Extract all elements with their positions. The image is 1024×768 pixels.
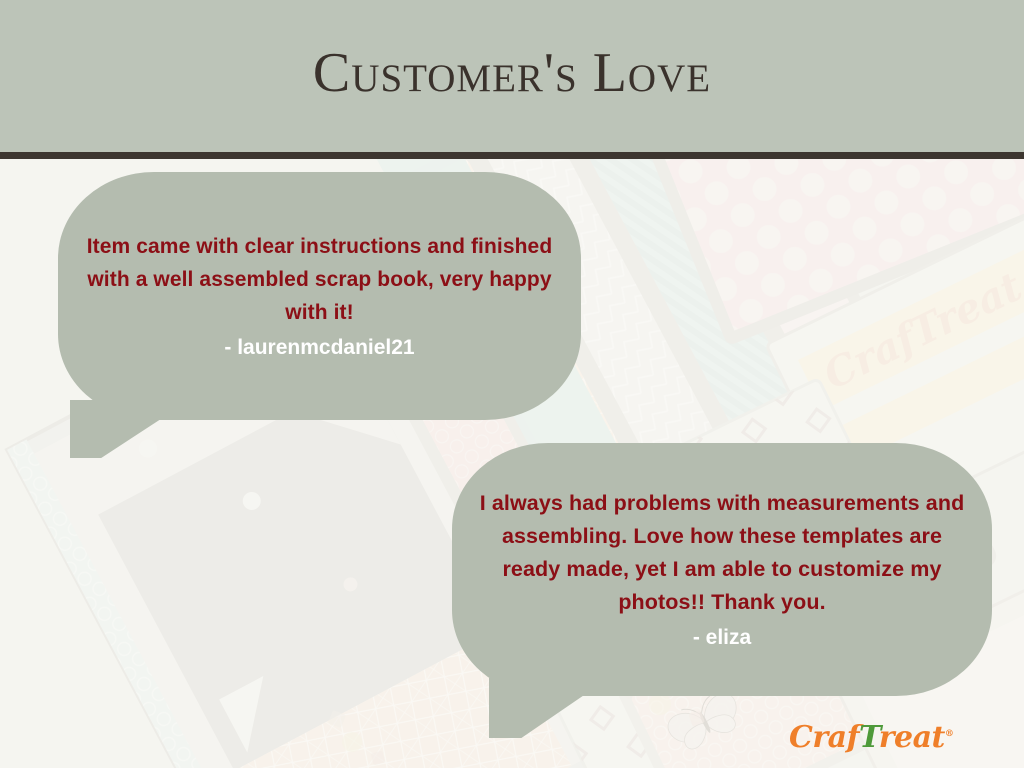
logo-text-reat: reat — [879, 720, 945, 755]
slide-canvas: CrafTreat — [0, 0, 1024, 768]
logo-text-t: T — [859, 720, 879, 755]
testimonial-quote-2: I always had problems with measurements … — [474, 487, 970, 619]
testimonial-bubble-2: I always had problems with measurements … — [452, 443, 992, 696]
logo-trademark-symbol: ® — [945, 729, 954, 739]
testimonial-quote-1: Item came with clear instructions and fi… — [84, 230, 555, 329]
header-divider-rule — [0, 152, 1024, 159]
testimonial-author-2: - eliza — [693, 622, 751, 653]
craftreat-logo: CrafTreat® — [789, 715, 953, 757]
testimonial-author-1: - laurenmcdaniel21 — [224, 332, 414, 363]
testimonial-bubble-1: Item came with clear instructions and fi… — [58, 172, 581, 420]
logo-text-craf: Craf — [789, 720, 859, 755]
page-title: Customer's Love — [0, 41, 1024, 105]
